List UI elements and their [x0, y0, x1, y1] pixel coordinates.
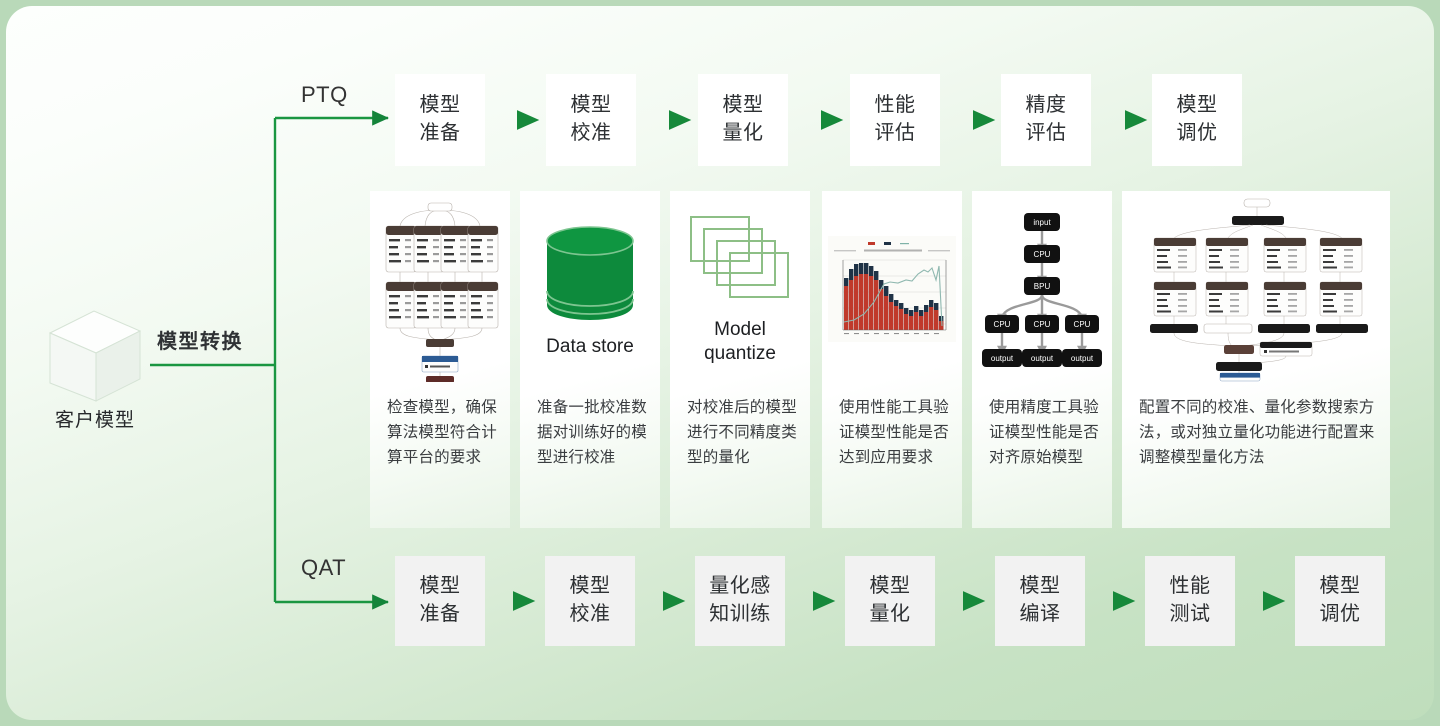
- card-model-quantize[interactable]: Model quantize 对校准后的模型进行不同精度类型的量化: [670, 191, 810, 528]
- ptq-step-2[interactable]: 模型 校准: [546, 74, 636, 166]
- step-line2: 量化: [723, 120, 764, 148]
- card-description: 配置不同的校准、量化参数搜索方法，或对独立量化功能进行配置来调整模型量化方法: [1139, 395, 1378, 470]
- qat-step-2[interactable]: 模型 校准: [545, 556, 635, 646]
- step-line1: 模型: [723, 92, 764, 120]
- qat-step-3[interactable]: 量化感 知训练: [695, 556, 785, 646]
- step-line2: 调优: [1320, 601, 1361, 629]
- card-art-caption: Data store: [546, 335, 634, 359]
- step-line1: 量化感: [709, 573, 771, 601]
- card-model-prepare[interactable]: 检查模型，确保算法模型符合计算平台的要求: [370, 191, 510, 528]
- card-description: 使用性能工具验证模型性能是否达到应用要求: [839, 395, 950, 470]
- card-description: 对校准后的模型进行不同精度类型的量化: [687, 395, 798, 470]
- diagram-root: 客户模型 模型转换 PTQ QAT 模型 准备 模型 校准 模型 量化 性能 评…: [0, 0, 1440, 726]
- step-line1: 模型: [420, 92, 461, 120]
- card-art: [1122, 191, 1390, 387]
- step-line2: 校准: [570, 601, 611, 629]
- svg-text:CPU: CPU: [1034, 250, 1051, 259]
- step-line1: 模型: [1020, 573, 1061, 601]
- stacked-layers-icon: [686, 212, 794, 310]
- step-line1: 模型: [571, 92, 612, 120]
- source-model: 客户模型: [40, 305, 150, 435]
- step-line2: 评估: [875, 120, 916, 148]
- branch-label-ptq: PTQ: [301, 82, 348, 108]
- source-model-label: 客户模型: [35, 405, 155, 432]
- step-line1: 性能: [1170, 573, 1211, 601]
- svg-text:CPU: CPU: [1074, 320, 1091, 329]
- bar-chart-icon: [828, 236, 956, 342]
- database-icon: [541, 219, 639, 327]
- qat-step-7[interactable]: 模型 调优: [1295, 556, 1385, 646]
- card-art: Data store: [520, 191, 660, 387]
- card-description: 使用精度工具验证模型性能是否对齐原始模型: [989, 395, 1100, 470]
- step-line2: 量化: [870, 601, 911, 629]
- qat-step-1[interactable]: 模型 准备: [395, 556, 485, 646]
- ptq-step-4[interactable]: 性能 评估: [850, 74, 940, 166]
- svg-text:BPU: BPU: [1034, 282, 1051, 291]
- card-art: input CPU BPU CPU CPU CPU output output …: [972, 191, 1112, 387]
- ptq-step-3[interactable]: 模型 量化: [698, 74, 788, 166]
- card-data-store[interactable]: Data store 准备一批校准数据对训练好的模型进行校准: [520, 191, 660, 528]
- qat-step-6[interactable]: 性能 测试: [1145, 556, 1235, 646]
- card-tuning[interactable]: 配置不同的校准、量化参数搜索方法，或对独立量化功能进行配置来调整模型量化方法: [1122, 191, 1390, 528]
- ptq-step-5[interactable]: 精度 评估: [1001, 74, 1091, 166]
- card-art-caption: Model quantize: [704, 318, 776, 366]
- svg-text:output: output: [991, 354, 1014, 363]
- card-accuracy-eval[interactable]: input CPU BPU CPU CPU CPU output output …: [972, 191, 1112, 528]
- svg-text:input: input: [1033, 218, 1051, 227]
- step-line2: 评估: [1026, 120, 1067, 148]
- large-model-graph-icon: [1140, 196, 1372, 382]
- model-transform-label: 模型转换: [157, 325, 243, 354]
- step-line2: 准备: [420, 120, 461, 148]
- qat-step-4[interactable]: 模型 量化: [845, 556, 935, 646]
- card-art-caption-line2: quantize: [704, 342, 776, 366]
- step-line1: 模型: [1177, 92, 1218, 120]
- card-art: Model quantize: [670, 191, 810, 387]
- step-line2: 知训练: [709, 601, 771, 629]
- card-description: 准备一批校准数据对训练好的模型进行校准: [537, 395, 648, 470]
- step-line1: 模型: [870, 573, 911, 601]
- qat-step-5[interactable]: 模型 编译: [995, 556, 1085, 646]
- svg-text:CPU: CPU: [1034, 320, 1051, 329]
- ptq-step-1[interactable]: 模型 准备: [395, 74, 485, 166]
- branch-label-qat: QAT: [301, 555, 346, 581]
- model-graph-icon: [380, 196, 500, 382]
- step-line1: 模型: [420, 573, 461, 601]
- svg-text:output: output: [1071, 354, 1094, 363]
- card-art: [822, 191, 962, 387]
- step-line1: 性能: [875, 92, 916, 120]
- card-art-caption-line1: Model: [704, 318, 776, 342]
- step-line2: 测试: [1170, 601, 1211, 629]
- svg-text:output: output: [1031, 354, 1054, 363]
- svg-text:CPU: CPU: [994, 320, 1011, 329]
- cube-icon: [40, 305, 150, 405]
- step-line2: 调优: [1177, 120, 1218, 148]
- step-line1: 模型: [1320, 573, 1361, 601]
- card-performance-eval[interactable]: 使用性能工具验证模型性能是否达到应用要求: [822, 191, 962, 528]
- step-line2: 准备: [420, 601, 461, 629]
- device-tree-icon: input CPU BPU CPU CPU CPU output output …: [982, 205, 1102, 373]
- step-line2: 校准: [571, 120, 612, 148]
- step-line2: 编译: [1020, 601, 1061, 629]
- step-line1: 模型: [570, 573, 611, 601]
- ptq-step-6[interactable]: 模型 调优: [1152, 74, 1242, 166]
- card-art: [370, 191, 510, 387]
- step-line1: 精度: [1026, 92, 1067, 120]
- card-description: 检查模型，确保算法模型符合计算平台的要求: [387, 395, 498, 470]
